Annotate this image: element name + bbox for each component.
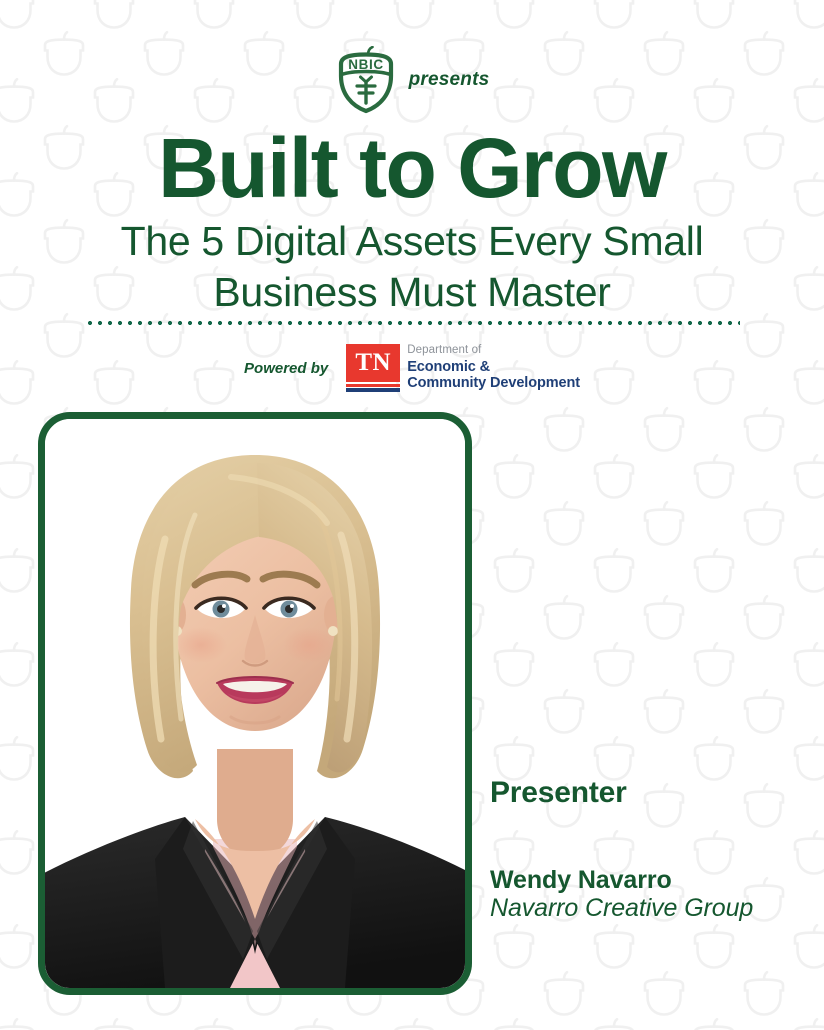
logo-row: NBIC presents	[0, 46, 824, 114]
nbic-wordmark: NBIC	[348, 57, 383, 72]
presenter-photo-frame: Headshot of Wendy Navarro, smiling woman…	[38, 412, 472, 995]
presenter-block: Presenter Wendy Navarro Navarro Creative…	[490, 778, 810, 923]
subtitle-line-1: The 5 Digital Assets Every Small	[42, 216, 782, 267]
tn-navy-bar	[346, 388, 400, 392]
tn-monogram: TN	[346, 344, 400, 382]
page-title: Built to Grow	[0, 126, 824, 210]
flyer-poster: NBIC presents Built to Grow The 5 Digita…	[0, 0, 824, 1030]
dotted-divider	[85, 320, 740, 326]
tn-department-label: Department of	[407, 345, 580, 357]
tn-community-development-label: Community Development	[407, 375, 580, 392]
page-subtitle: The 5 Digital Assets Every Small Busines…	[42, 216, 782, 318]
presents-label: presents	[409, 69, 490, 91]
presenter-heading: Presenter	[490, 778, 810, 808]
tn-ecd-logo: TN Department of Economic & Community De…	[346, 344, 580, 392]
presenter-name: Wendy Navarro	[490, 866, 810, 894]
presenter-organization: Navarro Creative Group	[490, 894, 810, 923]
tn-red-bar	[346, 384, 400, 387]
powered-by-label: Powered by	[244, 360, 328, 377]
presenter-headshot-image: Headshot of Wendy Navarro, smiling woman…	[45, 419, 465, 988]
subtitle-line-2: Business Must Master	[42, 267, 782, 318]
tn-logo-text: Department of Economic & Community Devel…	[407, 344, 580, 392]
powered-by-row: Powered by TN Department of Economic & C…	[0, 344, 824, 392]
tn-economic-label: Economic &	[407, 359, 580, 376]
tn-mark: TN	[346, 344, 400, 392]
nbic-acorn-shield-logo-icon: NBIC	[335, 46, 397, 114]
